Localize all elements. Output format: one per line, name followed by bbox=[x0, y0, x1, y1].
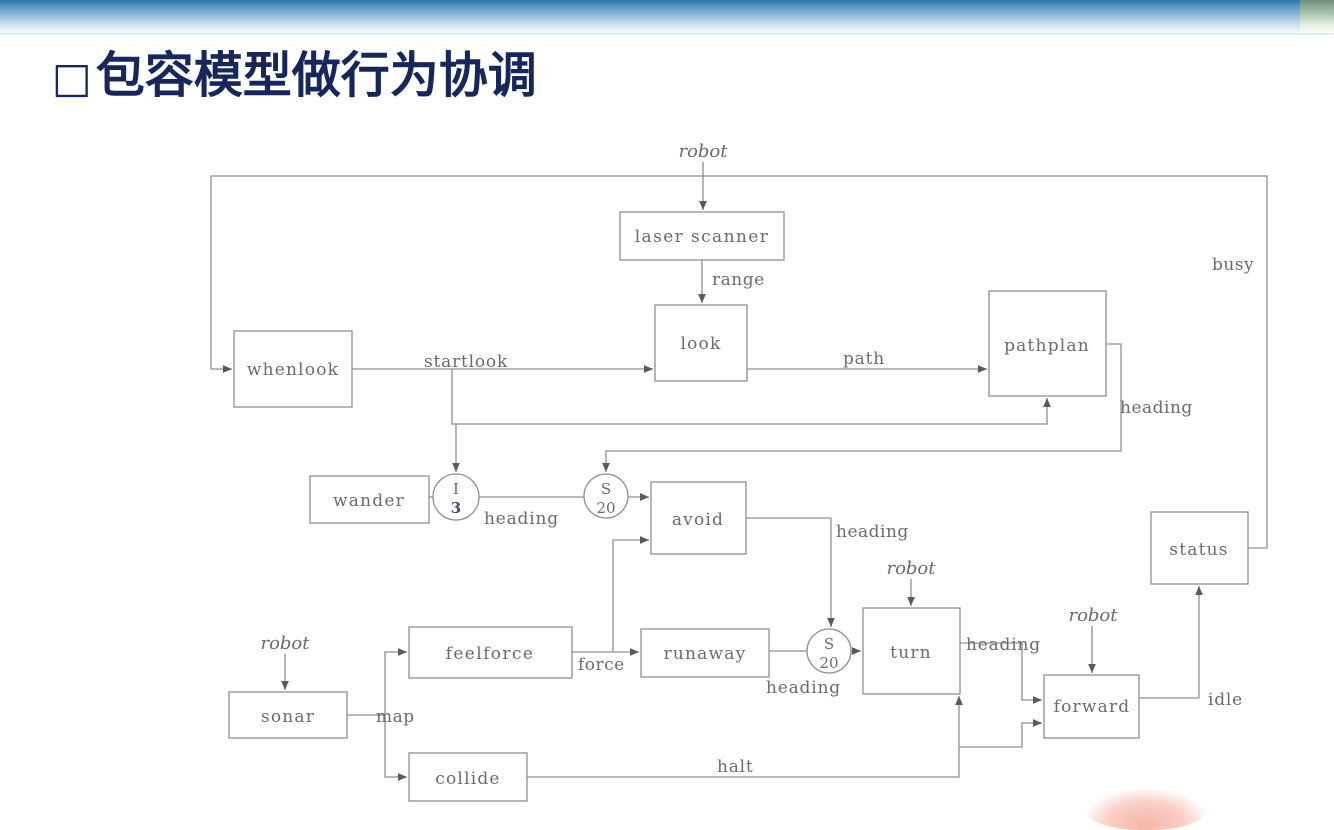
box-label: turn bbox=[890, 643, 932, 663]
signal-label-heading-wander: heading bbox=[484, 509, 559, 529]
box-collide[interactable]: collide bbox=[409, 753, 527, 801]
box-label: forward bbox=[1054, 697, 1131, 717]
box-label: status bbox=[1169, 540, 1228, 560]
box-forward[interactable]: forward bbox=[1044, 675, 1139, 738]
signal-label-path: path bbox=[843, 349, 885, 369]
box-pathplan[interactable]: pathplan bbox=[989, 291, 1106, 396]
node-top-label: S bbox=[601, 480, 611, 498]
node-bottom-label: 20 bbox=[596, 499, 615, 517]
wire-map-to-feelforce bbox=[385, 652, 407, 715]
signal-label-robot-forward: robot bbox=[1068, 605, 1118, 626]
bottom-right-decoration bbox=[1086, 790, 1206, 830]
box-whenlook[interactable]: whenlook bbox=[234, 331, 352, 407]
signal-label-force: force bbox=[578, 655, 625, 675]
box-label: feelforce bbox=[446, 644, 535, 664]
signal-label-range: range bbox=[712, 270, 765, 290]
signal-label-halt: halt bbox=[717, 757, 754, 777]
signal-label-map: map bbox=[376, 707, 415, 727]
box-label: sonar bbox=[261, 707, 315, 727]
signal-label-busy: busy bbox=[1212, 255, 1254, 275]
box-avoid[interactable]: avoid bbox=[651, 482, 746, 554]
box-label: wander bbox=[333, 491, 405, 511]
wire-halt-into-forward bbox=[959, 723, 1042, 747]
box-feelforce[interactable]: feelforce bbox=[409, 627, 572, 678]
box-look[interactable]: look bbox=[655, 305, 747, 381]
box-label: look bbox=[680, 334, 721, 354]
signal-label-heading-turn: heading bbox=[966, 635, 1041, 655]
box-wander[interactable]: wander bbox=[310, 476, 429, 523]
box-runaway[interactable]: runaway bbox=[641, 629, 769, 677]
node-inhibitor-3[interactable]: I 3 bbox=[433, 474, 479, 520]
signal-label-idle: idle bbox=[1208, 690, 1243, 710]
node-bottom-label: 20 bbox=[819, 654, 838, 672]
signal-label-robot-sonar: robot bbox=[260, 633, 310, 654]
wire-startlook-branch-to-pathplan bbox=[452, 369, 1047, 424]
box-sonar[interactable]: sonar bbox=[229, 692, 347, 738]
box-label: whenlook bbox=[247, 360, 339, 380]
box-status[interactable]: status bbox=[1151, 512, 1248, 584]
box-label: runaway bbox=[664, 644, 747, 664]
signal-label-heading-runaway: heading bbox=[766, 678, 841, 698]
node-top-label: I bbox=[453, 480, 459, 498]
box-label: laser scanner bbox=[635, 227, 770, 247]
box-label: collide bbox=[435, 769, 500, 789]
box-label: pathplan bbox=[1004, 336, 1090, 356]
signal-label-startlook: startlook bbox=[424, 352, 508, 372]
diagram-canvas: laser scanner whenlook look pathplan wan… bbox=[0, 0, 1334, 812]
subsumption-architecture-diagram: laser scanner whenlook look pathplan wan… bbox=[0, 0, 1334, 812]
signal-label-robot-top: robot bbox=[678, 141, 728, 162]
signal-label-robot-turn: robot bbox=[886, 558, 936, 579]
node-suppressor-20-b[interactable]: S 20 bbox=[807, 629, 851, 673]
box-laser-scanner[interactable]: laser scanner bbox=[620, 212, 784, 260]
box-label: avoid bbox=[672, 510, 724, 530]
wire-idle-forward-to-status bbox=[1139, 586, 1199, 698]
signal-label-heading-pathplan: heading bbox=[1120, 398, 1193, 418]
node-bottom-label: 3 bbox=[451, 499, 461, 517]
node-top-label: S bbox=[824, 635, 834, 653]
wire-heading-avoid-to-suppressor-b bbox=[746, 518, 831, 627]
signal-label-heading-avoid: heading bbox=[836, 522, 909, 542]
node-suppressor-20-a[interactable]: S 20 bbox=[584, 474, 628, 518]
box-turn[interactable]: turn bbox=[863, 608, 960, 694]
